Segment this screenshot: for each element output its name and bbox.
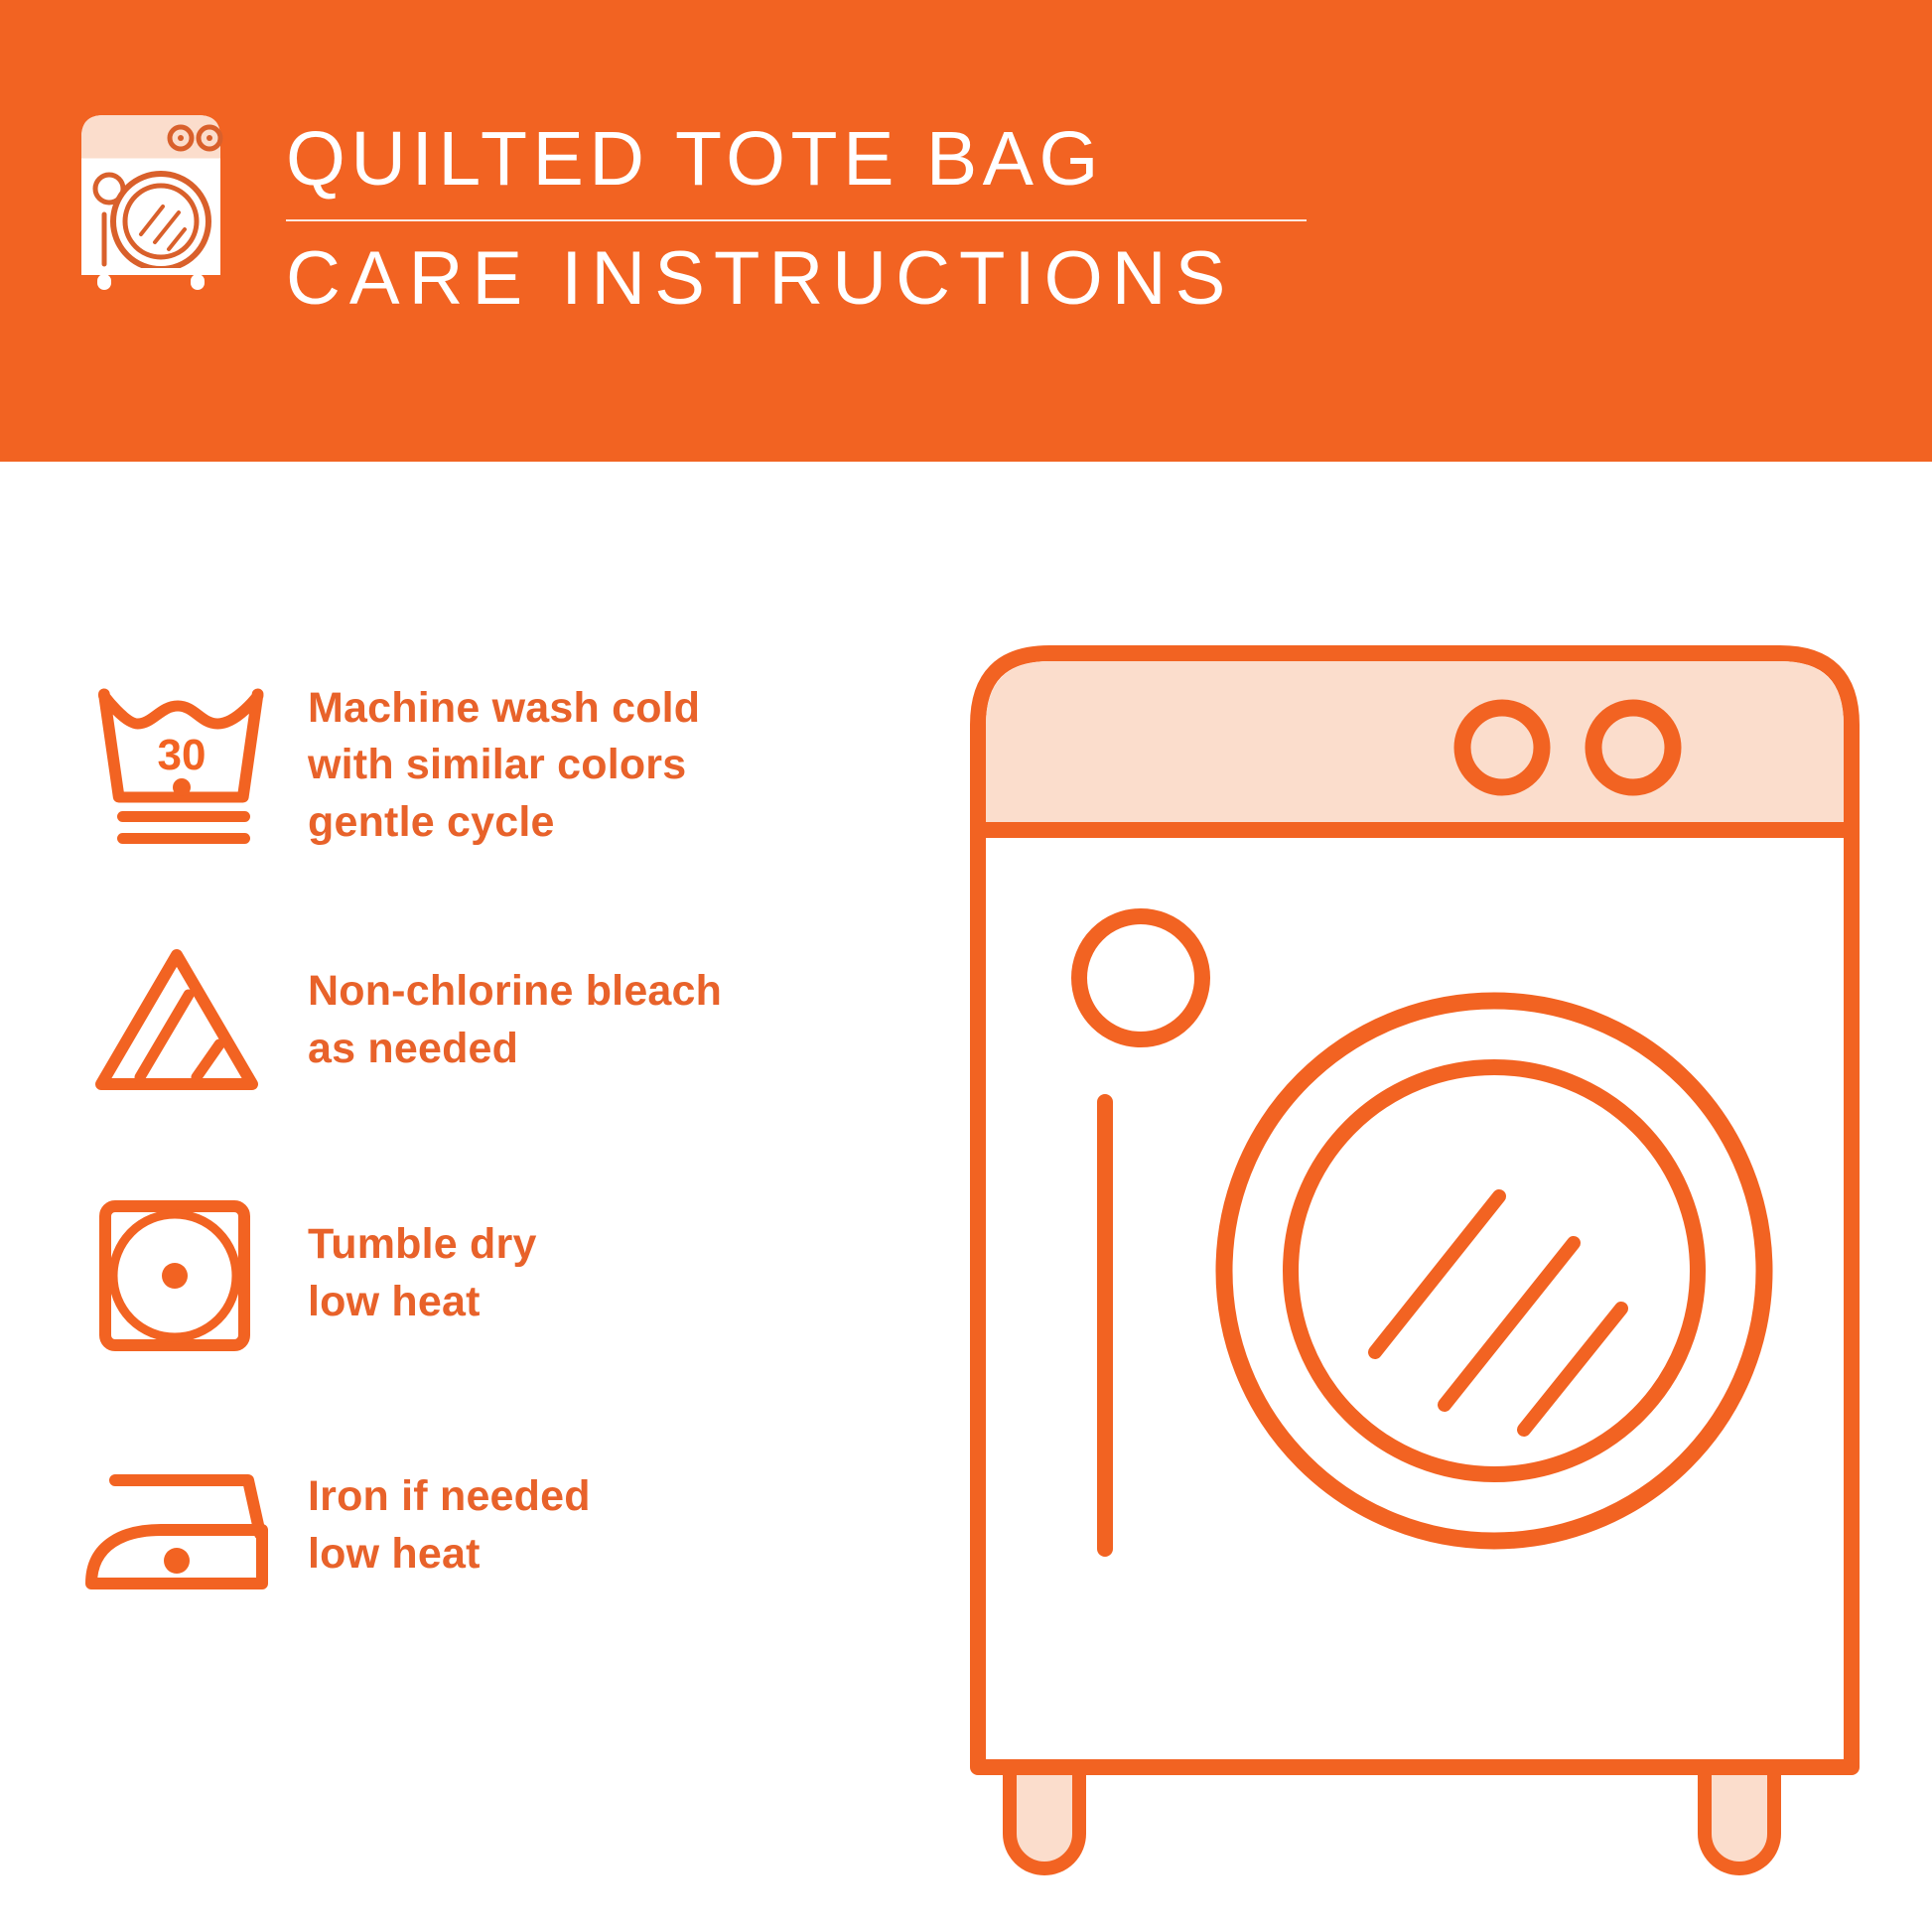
front-load-washing-machine-illustration [958,635,1871,1886]
title-divider [286,219,1307,221]
care-row-wash: 30 Machine wash cold with similar colors… [0,635,973,896]
care-instruction-list: 30 Machine wash cold with similar colors… [0,635,973,1650]
header-band: QUILTED TOTE BAG CARE INSTRUCTIONS [0,0,1932,462]
iron-low-heat-icon [77,1427,296,1625]
care-text-iron: Iron if needed low heat [308,1468,591,1583]
care-text-tumble-dry: Tumble dry low heat [308,1216,537,1330]
header-titles: QUILTED TOTE BAG CARE INSTRUCTIONS [286,121,1338,317]
page-title: QUILTED TOTE BAG [286,121,1338,198]
wash-tub-30-gentle-icon: 30 [77,666,296,865]
non-chlorine-bleach-triangle-icon [77,921,296,1120]
care-text-wash: Machine wash cold with similar colors ge… [308,680,700,852]
tumble-dry-low-heat-icon [77,1174,296,1373]
care-row-iron: Iron if needed low heat [0,1402,973,1650]
care-row-tumble-dry: Tumble dry low heat [0,1146,973,1402]
care-row-bleach: Non-chlorine bleach as needed [0,896,973,1146]
care-text-bleach: Non-chlorine bleach as needed [308,963,722,1077]
page-subtitle: CARE INSTRUCTIONS [286,241,1338,317]
care-instructions-poster: QUILTED TOTE BAG CARE INSTRUCTIONS 30 [0,0,1932,1932]
svg-text:30: 30 [158,731,207,779]
washing-machine-icon [71,107,230,288]
